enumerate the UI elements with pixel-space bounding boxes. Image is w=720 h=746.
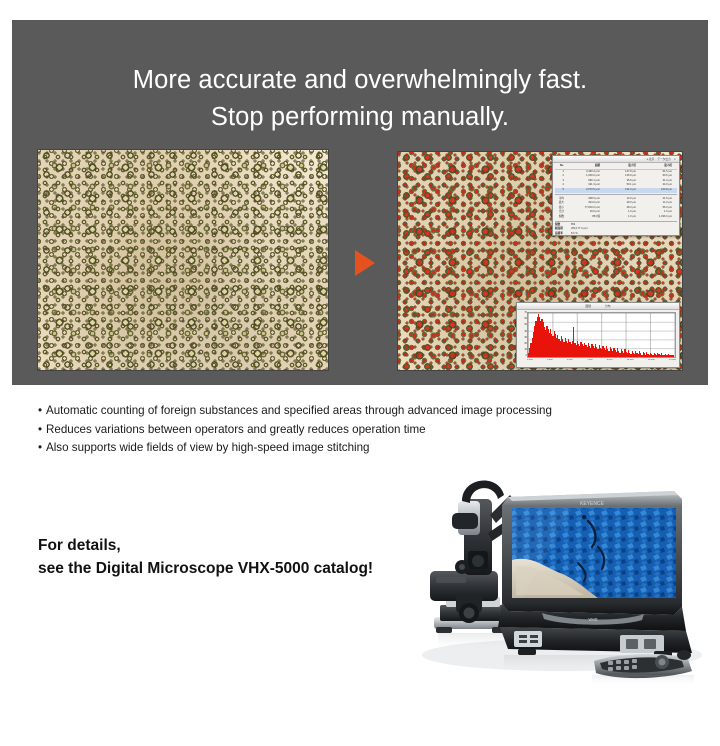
summary-max: 1.0 µm: [602, 215, 636, 220]
close-icon[interactable]: ✕: [674, 157, 676, 161]
monitor-unit: KEYENCE VHX: [498, 491, 692, 677]
bullet-dot-icon: •: [38, 402, 46, 421]
histogram-y-axis: 70 60 50 40 30 20 10 0: [518, 312, 527, 358]
specimen-image-before: [38, 150, 328, 370]
cell-area: 2,670.5 µm²: [566, 188, 600, 193]
feature-bullet-list: •Automatic counting of foreign substance…: [38, 402, 678, 458]
measurement-summary: 平均 308.5 µm² 13.0 µm 21.5 µm 最大 404.0 µm…: [553, 196, 679, 220]
measurement-table: No. 面積 最大径 最小径 1 3,460.4 µm² 147.8 µm 91…: [553, 163, 679, 193]
product-photo-vhx-5000: KEYENCE VHX: [392, 455, 704, 690]
hero-banner: More accurate and overwhelmingly fast. S…: [12, 20, 708, 385]
list-item: •Automatic counting of foreign substance…: [38, 402, 678, 421]
measurement-window-titlebar: ≡ 表示 データ出力 ✕: [553, 156, 679, 163]
table-row-selected[interactable]: 5 2,670.5 µm² 131.0 µm 104.8 µm: [555, 188, 677, 193]
monitor-brand-text: KEYENCE: [580, 501, 605, 507]
histogram-titlebar: 面積 分布: [517, 303, 679, 310]
specimen-image-after: ≡ 表示 データ出力 ✕ No. 面積 最大径 最小径 1 3,460.4 µm…: [398, 152, 682, 370]
bullet-dot-icon: •: [38, 421, 46, 440]
x-tick: 15,000: [669, 359, 676, 366]
cell-no: 5: [555, 188, 564, 193]
column-header-no: No.: [555, 164, 564, 169]
titlebar-button-export[interactable]: データ出力: [657, 157, 670, 161]
bullet-dot-icon: •: [38, 439, 46, 458]
x-tick: 1,000: [527, 359, 533, 366]
bullet-text: Reduces variations between operators and…: [46, 423, 426, 436]
summary-label: 個数: [555, 215, 564, 220]
footer-row-area-ratio: 面積率 8.6 %: [555, 232, 677, 236]
measurement-results-window[interactable]: ≡ 表示 データ出力 ✕ No. 面積 最大径 最小径 1 3,460.4 µm…: [552, 155, 680, 236]
summary-divider: [555, 221, 677, 222]
summary-area: 854 個: [566, 215, 600, 220]
histogram-bar: [673, 355, 674, 357]
play-arrow-icon: [355, 250, 375, 276]
cell-max: 131.0 µm: [602, 188, 636, 193]
cta-line-1: For details,: [38, 534, 373, 557]
x-tick: 3,000: [547, 359, 553, 366]
cell-min: 104.8 µm: [638, 188, 672, 193]
x-tick: 7,000: [587, 359, 593, 366]
monitor-badge-text: VHX: [588, 617, 597, 622]
histogram-window[interactable]: 面積 分布 70 60 50 40 30 20 10 0 1,000 3,000…: [516, 302, 680, 368]
column-header-area: 面積: [566, 164, 600, 169]
x-tick: 9,000: [607, 359, 613, 366]
footer-label: 面積率: [555, 232, 569, 236]
x-tick: 11,000: [627, 359, 634, 366]
histogram-bars: [528, 313, 675, 357]
table-divider: [555, 194, 677, 195]
cta-line-2: see the Digital Microscope VHX-5000 cata…: [38, 557, 373, 580]
headline-line-1: More accurate and overwhelmingly fast.: [12, 62, 708, 99]
bullet-text: Also supports wide fields of view by hig…: [46, 441, 370, 454]
hero-headline: More accurate and overwhelmingly fast. S…: [12, 62, 708, 136]
summary-min: 1,036.0 µm: [638, 215, 672, 220]
histogram-mode-label: 分布: [605, 304, 611, 308]
histogram-metric-label: 面積: [585, 304, 591, 308]
footer-value: 8.6 %: [571, 232, 578, 236]
column-header-min-diameter: 最小径: [638, 164, 672, 169]
histogram-plot-area: [527, 312, 676, 358]
summary-row: 個数 854 個 1.0 µm 1,036.0 µm: [555, 215, 677, 220]
catalog-call-to-action: For details, see the Digital Microscope …: [38, 534, 373, 580]
headline-line-2: Stop performing manually.: [12, 99, 708, 136]
x-tick: 13,000: [648, 359, 655, 366]
column-header-max-diameter: 最大径: [602, 164, 636, 169]
bullet-text: Automatic counting of foreign substances…: [46, 404, 552, 417]
x-tick: 5,000: [567, 359, 573, 366]
measurement-footer: 個数 854 総面積 280,177.0 µm² 面積率 8.6 %: [553, 223, 679, 236]
list-item: •Reduces variations between operators an…: [38, 421, 678, 440]
histogram-x-axis: 1,000 3,000 5,000 7,000 9,000 11,000 13,…: [527, 359, 676, 366]
particle-layer-d: [38, 150, 328, 370]
particle-field-before: [38, 150, 328, 370]
specimen-before-canvas: [38, 150, 328, 370]
titlebar-button-display[interactable]: ≡ 表示: [647, 157, 655, 161]
